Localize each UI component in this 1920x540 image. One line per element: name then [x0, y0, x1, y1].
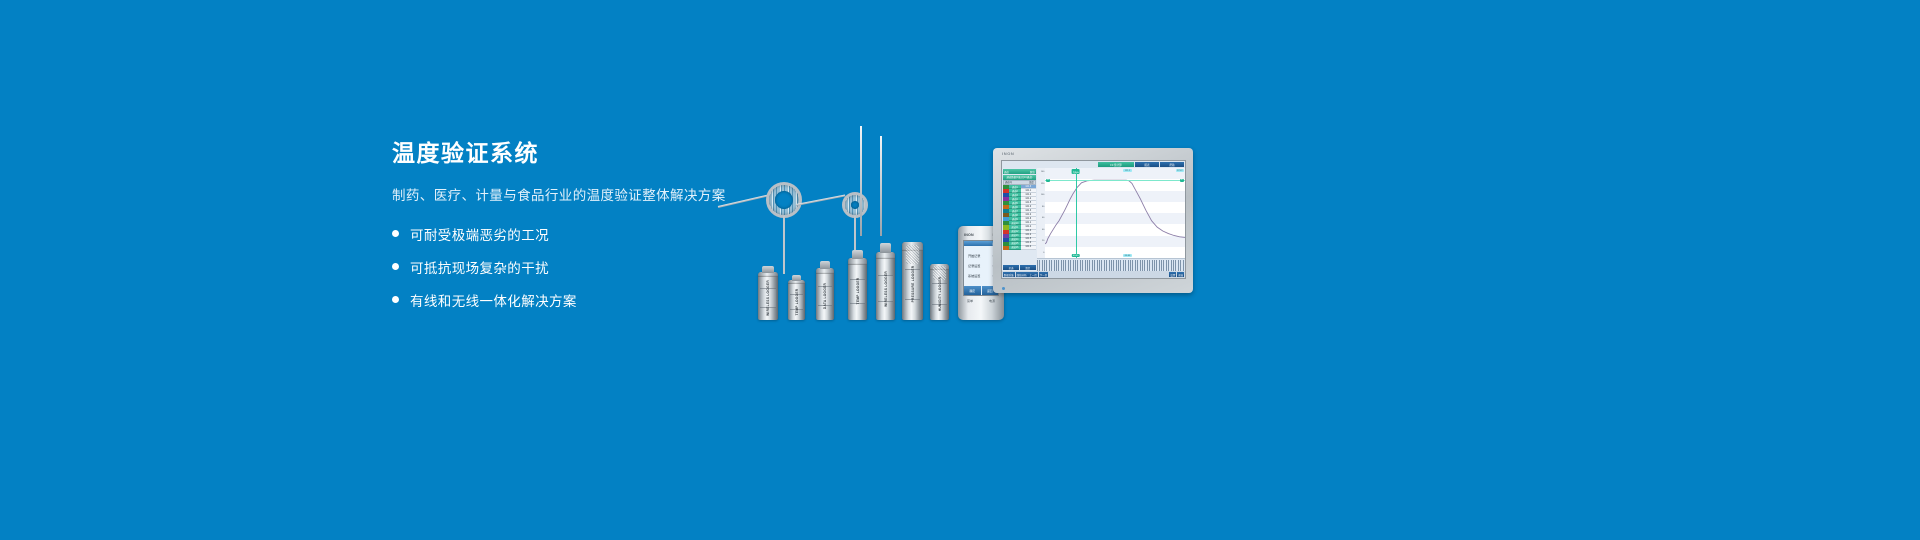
cursor-cyan-right-label[interactable]: 121.2 [1176, 169, 1184, 172]
logger-filter-cap [906, 245, 919, 264]
clear-button[interactable]: 清空 [1020, 265, 1036, 270]
feature-label: 可抵抗现场复杂的干扰 [410, 257, 549, 277]
channel-row-list: 通道1121.3通道2121.1通道3121.4通道4121.2通道5121.5… [1003, 185, 1036, 265]
logger-label: PRESSURE LOGGER [905, 269, 921, 300]
x-tick [1183, 260, 1185, 271]
channel-table: 通道 数值 通道数据列表(共16通道) 通道号 温度 通道1121.3通道212… [1002, 168, 1037, 271]
needle-probe-sensor [880, 136, 882, 236]
handheld-brand-label: INON [964, 233, 974, 237]
feature-label: 可耐受极端恶劣的工况 [410, 224, 549, 244]
f0-calc-button[interactable]: F0 值计算 [1098, 162, 1134, 167]
list-item[interactable]: 开始记录 > [968, 253, 994, 258]
exit-button[interactable]: 退出 [1177, 272, 1184, 277]
select-all-button[interactable]: 全选 [1003, 265, 1019, 270]
toolbar-spacer [1003, 162, 1097, 167]
cursor-marker-right[interactable]: B [1180, 179, 1184, 182]
help-button[interactable]: 帮助 [1160, 162, 1184, 167]
channel-table-footer: 全选 清空 [1003, 265, 1036, 270]
data-logger-device: DATA LOGGER [816, 268, 834, 320]
monitor-display: INON F0 值计算 报表 帮助 通道 数值 [993, 148, 1193, 293]
logger-label: HUMIDITY LOGGER [932, 283, 946, 305]
channel-name-cell: 通道16 [1009, 246, 1021, 250]
channel-table-headerbar: 通道 数值 [1003, 169, 1036, 174]
chart-plot-area: 光标A 00:00 121.2 00:00 121.2 A B [1045, 168, 1185, 258]
vertical-cursor[interactable] [1076, 168, 1077, 258]
menu-item-label: 记录设置 [968, 263, 980, 268]
chart-panel: 020406080100120140 [1037, 168, 1185, 271]
menu-key[interactable]: 菜单 [967, 299, 973, 303]
data-logger-device: TEMP LOGGER [848, 258, 867, 320]
x-axis [1037, 258, 1185, 271]
channel-value-cell: 121.3 [1021, 246, 1036, 250]
bullet-dot-icon [392, 263, 399, 270]
handheld-keypad: 菜单 电源 [962, 296, 1000, 303]
logger-sensor-tip [852, 250, 863, 259]
monitor-brand-label: INON [1002, 151, 1014, 156]
channel-table-title: 通道数据列表(共16通道) [1003, 175, 1036, 180]
menu-item-label: 开始记录 [968, 253, 980, 258]
channel-table-columns: 通道号 温度 [1003, 180, 1036, 185]
cursor-bottom-label[interactable]: 00:00 [1071, 254, 1079, 257]
next-page-button[interactable]: 下一页 [1039, 272, 1049, 277]
software-screen: F0 值计算 报表 帮助 通道 数值 通道数据列表(共16通道) 通道号 [1001, 160, 1186, 279]
cursor-cyan-bottom-label[interactable]: 00:00 [1123, 254, 1131, 257]
logger-sensor-tip [792, 275, 802, 281]
menu-item-label: 系统设置 [968, 273, 980, 278]
power-key[interactable]: 电源 [989, 299, 995, 303]
data-acquisition-button[interactable]: 数据采集 [1003, 272, 1015, 277]
curve-analysis-button[interactable]: 曲线分析 [1016, 272, 1028, 277]
column-header-channel: 通道号 [1005, 180, 1012, 184]
data-logger-device: TEMP LOGGER [788, 280, 805, 320]
chart-main: 020406080100120140 [1037, 168, 1185, 258]
product-group: WIRELESS LOGGER TEMP LOGGER DATA LOGGER … [700, 120, 1220, 320]
temperature-curve [1045, 168, 1185, 258]
bullet-dot-icon [392, 230, 399, 237]
channel-header-right: 数值 [1030, 170, 1035, 174]
logger-label: TEMP LOGGER [850, 279, 864, 304]
list-item[interactable]: 记录设置 > [968, 263, 994, 268]
prev-page-button[interactable]: 上一页 [1028, 272, 1038, 277]
list-item[interactable]: 系统设置 > [968, 273, 994, 278]
data-logger-device: WIRELESS LOGGER [758, 272, 778, 320]
settings-button[interactable]: 设置 [1169, 272, 1176, 277]
logger-label: WIRELESS LOGGER [760, 288, 775, 307]
table-row[interactable]: 通道16121.3 [1003, 246, 1036, 250]
hero-banner: 温度验证系统 制药、医疗、计量与食品行业的温度验证整体解决方案 可耐受极端恶劣的… [0, 0, 1920, 540]
data-logger-device: WIRELESS LOGGER [876, 252, 895, 320]
feature-label: 有线和无线一体化解决方案 [410, 290, 577, 310]
data-logger-device: PRESSURE LOGGER [902, 242, 923, 320]
power-indicator-icon [1002, 287, 1005, 290]
cursor-top-label[interactable]: 光标A [1071, 169, 1080, 174]
cursor-cyan-top-label[interactable]: 121.2 [1123, 169, 1131, 172]
needle-probe-sensor [860, 126, 862, 236]
logger-sensor-tip [762, 266, 773, 273]
software-bottom-toolbar: 数据采集 曲线分析 上一页 下一页 设置 退出 [1002, 271, 1185, 278]
channel-header-left: 通道 [1004, 170, 1009, 174]
y-axis: 020406080100120140 [1037, 168, 1045, 258]
confirm-button[interactable]: 确定 [964, 286, 981, 295]
report-button[interactable]: 报表 [1135, 162, 1159, 167]
toolbar-spacer [1049, 272, 1169, 277]
software-top-toolbar: F0 值计算 报表 帮助 [1002, 161, 1185, 168]
bullet-dot-icon [392, 296, 399, 303]
logger-label: TEMP LOGGER [790, 294, 803, 310]
horizontal-cursor[interactable] [1045, 180, 1185, 181]
logger-label: DATA LOGGER [818, 286, 832, 307]
cursor-marker-left[interactable]: A [1046, 179, 1050, 182]
data-logger-device: HUMIDITY LOGGER [930, 264, 949, 320]
software-body: 通道 数值 通道数据列表(共16通道) 通道号 温度 通道1121.3通道212… [1002, 168, 1185, 271]
logger-sensor-tip [880, 243, 891, 253]
logger-sensor-tip [820, 261, 830, 269]
logger-label: WIRELESS LOGGER [878, 275, 892, 302]
column-header-temp: 温度 [1029, 180, 1034, 184]
